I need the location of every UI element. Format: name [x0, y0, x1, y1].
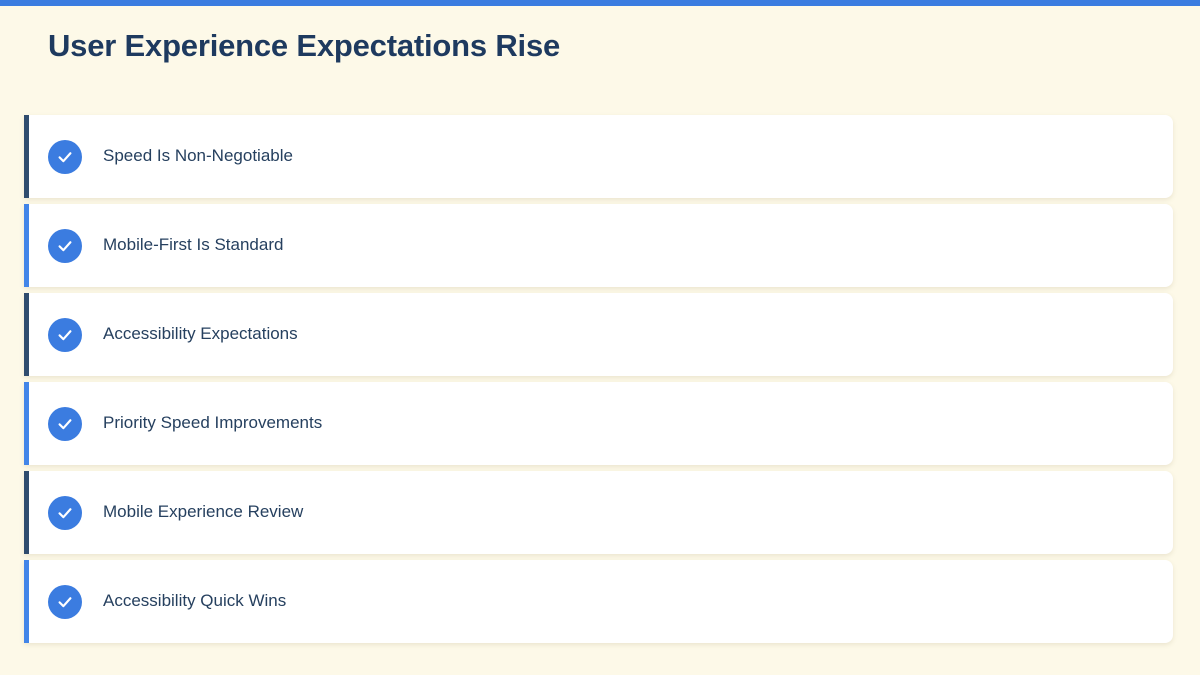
list-item-label: Accessibility Quick Wins [103, 591, 286, 611]
list-item[interactable]: Accessibility Quick Wins [24, 560, 1173, 643]
item-accent-stripe [24, 293, 29, 376]
checklist: Speed Is Non-Negotiable Mobile-First Is … [24, 115, 1173, 649]
list-item-label: Mobile Experience Review [103, 502, 303, 522]
check-circle-icon [48, 318, 82, 352]
check-circle-icon [48, 496, 82, 530]
list-item[interactable]: Accessibility Expectations [24, 293, 1173, 376]
item-accent-stripe [24, 115, 29, 198]
check-circle-icon [48, 140, 82, 174]
list-item[interactable]: Speed Is Non-Negotiable [24, 115, 1173, 198]
check-circle-icon [48, 407, 82, 441]
item-accent-stripe [24, 560, 29, 643]
list-item-label: Speed Is Non-Negotiable [103, 146, 293, 166]
check-circle-icon [48, 229, 82, 263]
list-item-label: Mobile-First Is Standard [103, 235, 283, 255]
list-item-label: Priority Speed Improvements [103, 413, 322, 433]
item-accent-stripe [24, 471, 29, 554]
list-item[interactable]: Mobile Experience Review [24, 471, 1173, 554]
page-content: User Experience Expectations Rise Speed … [0, 6, 1200, 675]
item-accent-stripe [24, 382, 29, 465]
list-item[interactable]: Mobile-First Is Standard [24, 204, 1173, 287]
list-item[interactable]: Priority Speed Improvements [24, 382, 1173, 465]
item-accent-stripe [24, 204, 29, 287]
page-title: User Experience Expectations Rise [48, 28, 560, 64]
check-circle-icon [48, 585, 82, 619]
list-item-label: Accessibility Expectations [103, 324, 298, 344]
